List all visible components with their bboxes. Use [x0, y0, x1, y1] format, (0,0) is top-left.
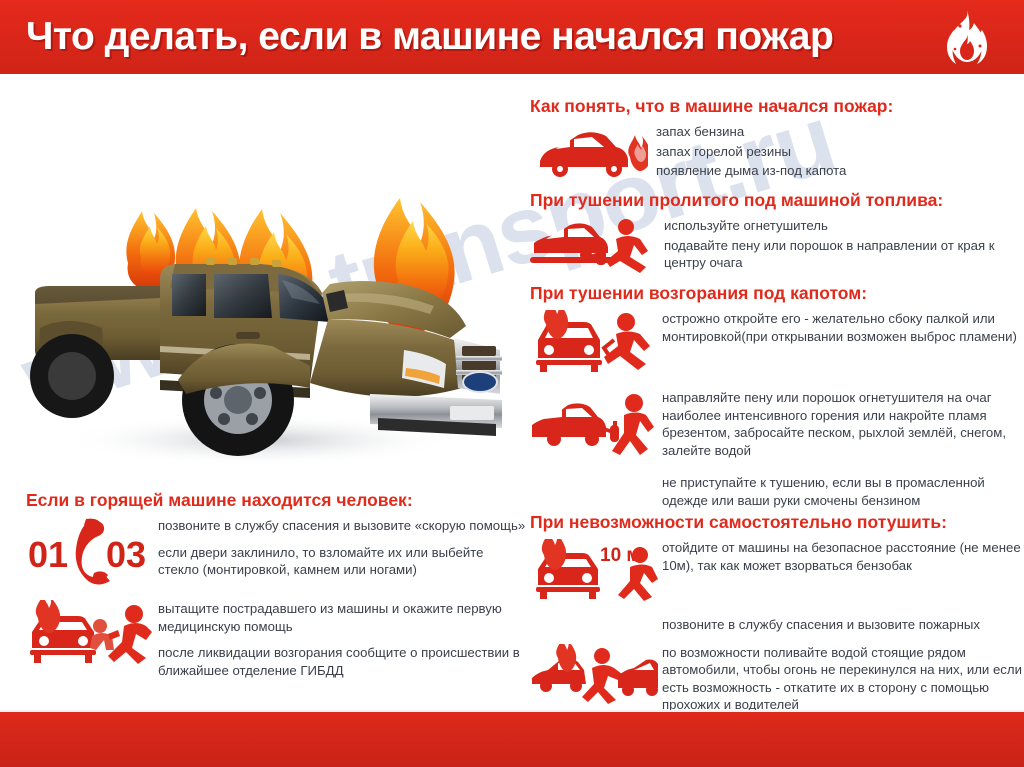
person-block-2: вытащите пострадавшего из машины и окажи…: [26, 600, 526, 679]
person-icon: [582, 648, 622, 704]
emergency-number-right: 03: [106, 534, 146, 575]
hood-block-2-text: направляйте пену или порошок огнетушител…: [662, 389, 1024, 459]
flame-icon: [936, 6, 998, 68]
paragraph: если двери заклинило, то взломайте их ил…: [158, 544, 526, 579]
paragraph: отойдите от машины на безопасное расстоя…: [662, 539, 1024, 574]
paragraph: острожно откройте его - желательно сбоку…: [662, 310, 1024, 345]
flame-icon: [628, 135, 648, 171]
list-item: запах горелой резины: [656, 143, 846, 161]
burning-car-icon: [532, 658, 586, 692]
list-item: появление дыма из-под капота: [656, 162, 846, 180]
section-title: Как понять, что в машине начался пожар:: [530, 96, 1020, 117]
section-title: При тушении пролитого под машиной топлив…: [530, 190, 1020, 211]
section-spilled-fuel: При тушении пролитого под машиной топлив…: [530, 190, 1020, 282]
person-pushing-car-away-icon: [530, 644, 662, 711]
cannot-block-1-text: отойдите от машины на безопасное расстоя…: [662, 539, 1024, 574]
cannot-block-1: 10 м отойдите от машины на безопасное ра…: [530, 539, 1024, 606]
section-title: При невозможности самостоятельно потушит…: [530, 512, 1024, 533]
hood-block-3-text: не приступайте к тушению, если вы в пром…: [662, 474, 1024, 509]
car-side-person-extinguisher-icon: [530, 389, 662, 464]
section-title: Если в горящей машине находится человек:: [26, 490, 526, 511]
person-icon: [606, 219, 648, 273]
phone-handset-icon: [76, 519, 110, 585]
section-title: При тушении возгорания под капотом:: [530, 283, 1024, 304]
poster-header: Что делать, если в машине начался пожар: [0, 0, 1024, 74]
person-icon: [612, 394, 654, 455]
second-car-icon: [618, 659, 658, 696]
paragraph: вытащите пострадавшего из машины и окажи…: [158, 600, 526, 635]
person-block-1: 01 03 позвоните в службу спасения и вызо…: [26, 517, 526, 590]
car-front-flame-person-crowbar-icon: [530, 310, 662, 379]
person-extinguisher-under-car-icon: [530, 217, 656, 282]
cannot-block-3-text: по возможности поливайте водой стоящие р…: [662, 644, 1024, 714]
person-block-2-text: вытащите пострадавшего из машины и окажи…: [158, 600, 526, 679]
page-title: Что делать, если в машине начался пожар: [26, 15, 833, 59]
cannot-block-3: по возможности поливайте водой стоящие р…: [530, 644, 1024, 714]
rescuer-icon: [108, 605, 152, 664]
hood-block-1-text: острожно откройте его - желательно сбоку…: [662, 310, 1024, 345]
paragraph: по возможности поливайте водой стоящие р…: [662, 644, 1024, 714]
burning-truck-illustration: [10, 88, 510, 488]
cannot-block-2: позвоните в службу спасения и вызовите п…: [530, 616, 1024, 634]
cannot-block-2-text: позвоните в службу спасения и вызовите п…: [662, 616, 1024, 634]
section-person-in-car: Если в горящей машине находится человек:…: [26, 490, 526, 679]
emergency-number-left: 01: [28, 534, 68, 575]
poster-root: Что делать, если в машине начался пожар …: [0, 0, 1024, 767]
paragraph: после ликвидации возгорания сообщите о п…: [158, 644, 526, 679]
paragraph: позвоните в службу спасения и вызовите «…: [158, 517, 526, 535]
paragraph: направляйте пену или порошок огнетушител…: [662, 389, 1024, 459]
section-detect-fire: Как понять, что в машине начался пожар:: [530, 96, 1020, 186]
car-front-icon: [536, 322, 602, 372]
paragraph: не приступайте к тушению, если вы в пром…: [662, 474, 1024, 509]
list-item: подавайте пену или порошок в направлении…: [664, 237, 1020, 272]
section-cannot-extinguish: При невозможности самостоятельно потушит…: [530, 512, 1024, 714]
phone-01-03-icon: 01 03: [26, 517, 158, 590]
poster-footer-bar: [0, 710, 1024, 767]
section-items: используйте огнетушитель подавайте пену …: [664, 217, 1020, 272]
person-rescuing-victim-icon: [26, 600, 158, 671]
list-item: используйте огнетушитель: [664, 217, 1020, 235]
hood-block-1: острожно откройте его - желательно сбоку…: [530, 310, 1024, 379]
person-block-1-text: позвоните в службу спасения и вызовите «…: [158, 517, 526, 579]
section-under-hood: При тушении возгорания под капотом:: [530, 283, 1024, 509]
section-items: запах бензина запах горелой резины появл…: [656, 123, 846, 182]
hood-block-3: не приступайте к тушению, если вы в пром…: [530, 474, 1024, 509]
car-side-with-flame-icon: [530, 123, 648, 186]
rear-wheel: [30, 334, 114, 418]
list-item: запах бензина: [656, 123, 846, 141]
paragraph: позвоните в службу спасения и вызовите п…: [662, 616, 1024, 634]
car-front-flame-person-running-10m-icon: 10 м: [530, 539, 662, 606]
hood-block-2: направляйте пену или порошок огнетушител…: [530, 389, 1024, 464]
